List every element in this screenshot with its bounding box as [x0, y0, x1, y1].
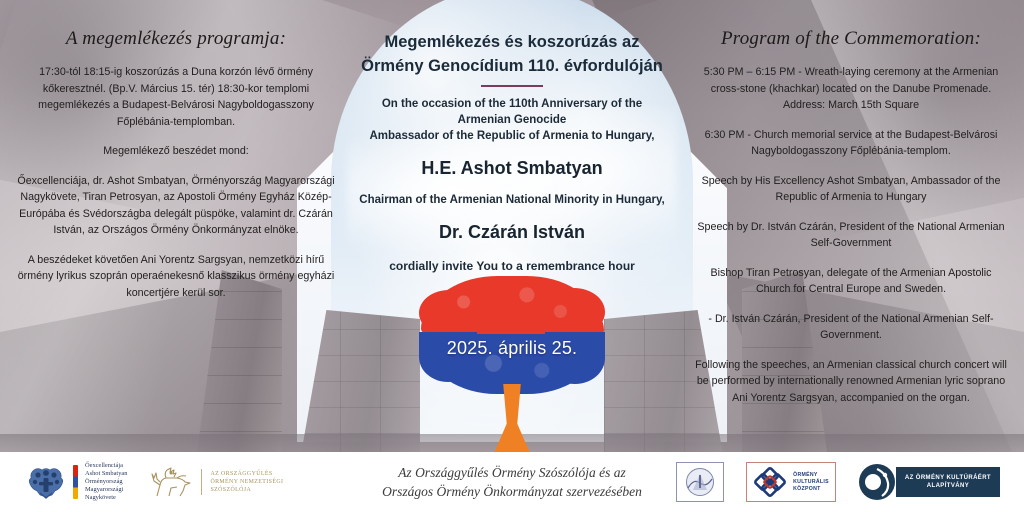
embassy-text-line-5: Nagykövete [85, 494, 127, 502]
armenian-culture-foundation-logo: AZ ÖRMÉNY KULTÚRÁÉRT ALAPÍTVÁNY [858, 462, 1000, 502]
foundation-text-line-2: ALAPÍTVÁNY [927, 482, 969, 490]
parliament-logo-text: AZ ORSZÁGGYŰLÉS ÖRMÉNY NEMZETISÉGI SZÓSZ… [210, 470, 283, 495]
english-program-heading: Program of the Commemoration: [686, 28, 1016, 50]
foundation-logo-text: AZ ÖRMÉNY KULTÚRÁÉRT ALAPÍTVÁNY [896, 467, 1000, 497]
ambassador-name: H.E. Ashot Smbatyan [339, 155, 685, 181]
invitation-subtitle-line-3: Ambassador of the Republic of Armenia to… [339, 128, 685, 144]
cultural-center-text-line-3: KÖZPONT [793, 486, 829, 493]
invitation-subtitle-line-2: Armenian Genocide [339, 112, 685, 128]
griffin-heraldic-icon [147, 465, 193, 499]
parliament-logo-divider [201, 469, 202, 495]
chairman-name: Dr. Czárán István [339, 219, 685, 245]
parliament-text-line-2: ÖRMÉNY NEMZETISÉGI [210, 478, 283, 486]
english-program-paragraph-6: - Dr. István Czárán, President of the Na… [686, 311, 1016, 344]
hungarian-program-paragraph-3: Őexcellenciája, dr. Ashot Smbatyan, Örmé… [8, 173, 344, 239]
invitation-text: cordially invite You to a remembrance ho… [339, 258, 685, 275]
footer-right-logos: ÖRMÉNY KULTURÁLIS KÖZPONT AZ ÖRMÉNY KULT… [676, 462, 1024, 502]
hungarian-program-paragraph-2: Megemlékező beszédet mond: [8, 143, 344, 160]
hungarian-program-paragraph-4: A beszédeket követően Ani Yorentz Sargsy… [8, 252, 344, 302]
organizer-credit: Az Országgyűlés Örmény Szószólója és az … [327, 463, 697, 501]
english-program-paragraph-3: Speech by His Excellency Ashot Smbatyan,… [686, 173, 1016, 206]
armenian-embassy-logo: Őexcellenciája Ashot Smbatyan Örményorsz… [26, 462, 127, 502]
foundation-circle-icon [858, 463, 896, 501]
embassy-text-line-4: Magyarországi [85, 486, 127, 494]
embassy-text-line-2: Ashot Smbatyan [85, 470, 127, 478]
armenian-coat-of-arms-icon [26, 464, 66, 500]
parliament-text-line-1: AZ ORSZÁGGYŰLÉS [210, 470, 283, 478]
parliament-spokesperson-logo: AZ ORSZÁGGYŰLÉS ÖRMÉNY NEMZETISÉGI SZÓSZ… [147, 465, 283, 499]
english-program-paragraph-5: Bishop Tiran Petrosyan, delegate of the … [686, 265, 1016, 298]
armenian-knot-icon [753, 466, 787, 498]
organizer-credit-line-2: Országos Örmény Önkormányzat szervezéséb… [327, 482, 697, 501]
english-program-paragraph-1: 5:30 PM – 6:15 PM - Wreath-laying ceremo… [686, 64, 1016, 114]
armenian-cultural-center-logo: ÖRMÉNY KULTURÁLIS KÖZPONT [746, 462, 836, 502]
invitation-subtitle-line-1: On the occasion of the 110th Anniversary… [339, 96, 685, 112]
cultural-center-text-line-2: KULTURÁLIS [793, 479, 829, 486]
commemoration-poster: A megemlékezés programja: 17:30-tól 18:1… [0, 0, 1024, 512]
hungarian-program-column: A megemlékezés programja: 17:30-tól 18:1… [8, 0, 344, 301]
cultural-center-text-line-1: ÖRMÉNY [793, 472, 829, 479]
english-program-column: Program of the Commemoration: 5:30 PM – … [686, 0, 1016, 406]
chairman-role: Chairman of the Armenian National Minori… [339, 192, 685, 208]
armenian-tricolor-bar [73, 465, 78, 499]
parliament-text-line-3: SZÓSZÓLÓJA [210, 486, 283, 494]
hungarian-program-paragraph-1: 17:30-tól 18:15-ig koszorúzás a Duna kor… [8, 64, 344, 130]
hungarian-program-heading: A megemlékezés programja: [8, 28, 344, 50]
embassy-text-line-3: Örményország [85, 478, 127, 486]
english-program-paragraph-7: Following the speeches, an Armenian clas… [686, 357, 1016, 407]
footer-left-logos: Őexcellenciája Ashot Smbatyan Örményorsz… [0, 462, 283, 502]
footer-logo-bar: Őexcellenciája Ashot Smbatyan Örményorsz… [0, 452, 1024, 512]
organizer-credit-line-1: Az Országgyűlés Örmény Szószólója és az [327, 463, 697, 482]
embassy-text-line-1: Őexcellenciája [85, 462, 127, 470]
embassy-logo-text: Őexcellenciája Ashot Smbatyan Örményorsz… [85, 462, 127, 502]
foundation-text-line-1: AZ ÖRMÉNY KULTÚRÁÉRT [905, 474, 991, 482]
invitation-column: Megemlékezés és koszorúzás az Örmény Gen… [339, 0, 685, 275]
title-divider-rule [481, 85, 543, 87]
english-program-paragraph-2: 6:30 PM - Church memorial service at the… [686, 127, 1016, 160]
cultural-center-logo-text: ÖRMÉNY KULTURÁLIS KÖZPONT [793, 472, 829, 493]
invitation-title-line-1: Megemlékezés és koszorúzás az [339, 30, 685, 54]
invitation-title-line-2: Örmény Genocídium 110. évfordulóján [339, 54, 685, 78]
english-program-paragraph-4: Speech by Dr. István Czárán, President o… [686, 219, 1016, 252]
